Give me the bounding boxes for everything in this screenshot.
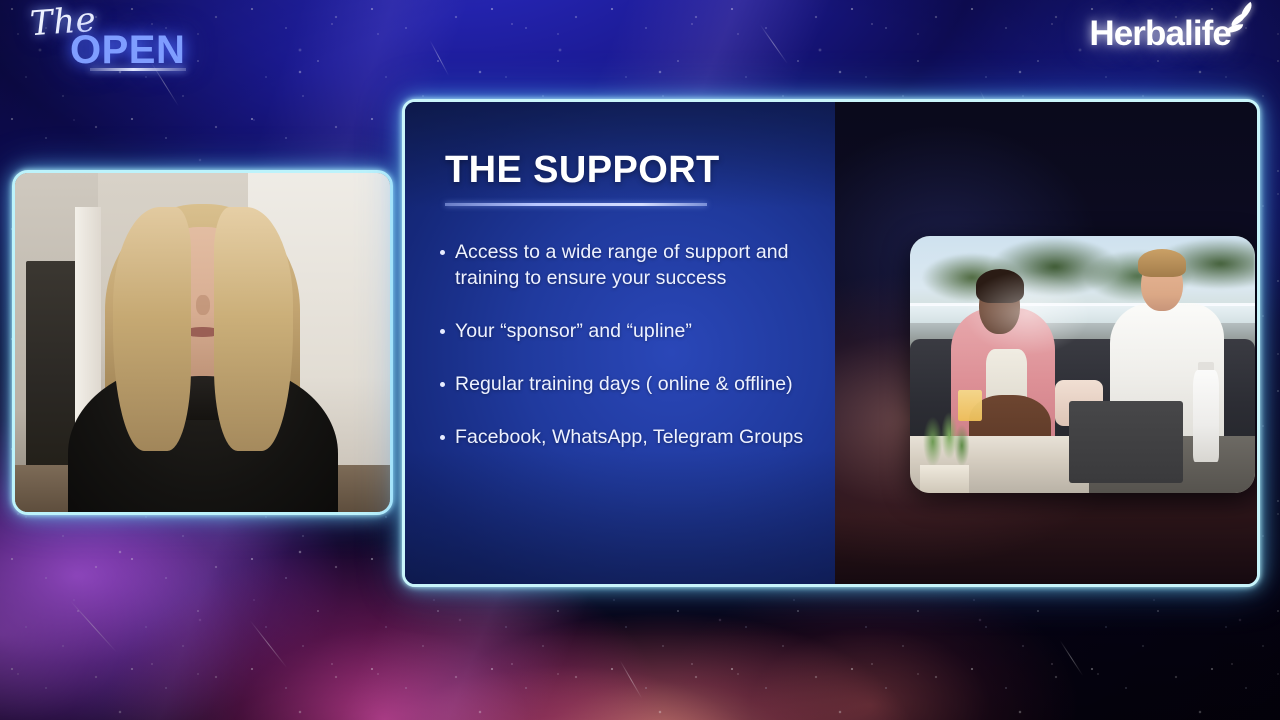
leaf-icon [1226,24,1243,34]
bullet-text: Regular training days ( online & offline… [455,371,793,397]
list-item: Your “sponsor” and “upline” [440,318,812,344]
underline-rule-icon [90,68,186,71]
slide-title: THE SUPPORT [445,149,720,192]
slide-title-underline-icon [445,203,707,206]
bullet-dot-icon [440,250,445,255]
herbalife-wordmark: Herbalife [1089,14,1231,54]
meteor-icon [620,660,643,699]
presentation-slide-panel[interactable]: THE SUPPORT Access to a wide range of su… [402,99,1260,587]
meteor-icon [250,620,288,668]
presenter-video-panel[interactable] [12,170,393,515]
presenter-avatar [15,173,390,512]
broadcast-stage: The OPEN Herbalife [0,0,1280,720]
slide-bullet-list: Access to a wide range of support and tr… [440,239,812,477]
presenter-video-feed [15,173,390,512]
photo-sun-glare [910,236,1255,493]
hair-front-right [214,207,293,451]
meteor-icon [760,24,788,64]
herbalife-leaf-icon [1226,6,1260,40]
bullet-text: Facebook, WhatsApp, Telegram Groups [455,424,803,450]
meteor-icon [1060,640,1084,676]
the-open-main-word: OPEN [70,28,185,73]
nose [196,295,210,315]
slide-lifestyle-photo [910,236,1255,493]
bullet-text: Your “sponsor” and “upline” [455,318,692,344]
the-open-logo: The OPEN [22,2,212,82]
herbalife-logo: Herbalife [1089,14,1260,54]
list-item: Regular training days ( online & offline… [440,371,812,397]
list-item: Facebook, WhatsApp, Telegram Groups [440,424,812,450]
bullet-dot-icon [440,435,445,440]
bullet-dot-icon [440,382,445,387]
bullet-dot-icon [440,329,445,334]
list-item: Access to a wide range of support and tr… [440,239,812,291]
hair-front-left [113,207,192,451]
meteor-icon [70,600,118,653]
bullet-text: Access to a wide range of support and tr… [455,239,812,291]
meteor-icon [430,40,450,76]
